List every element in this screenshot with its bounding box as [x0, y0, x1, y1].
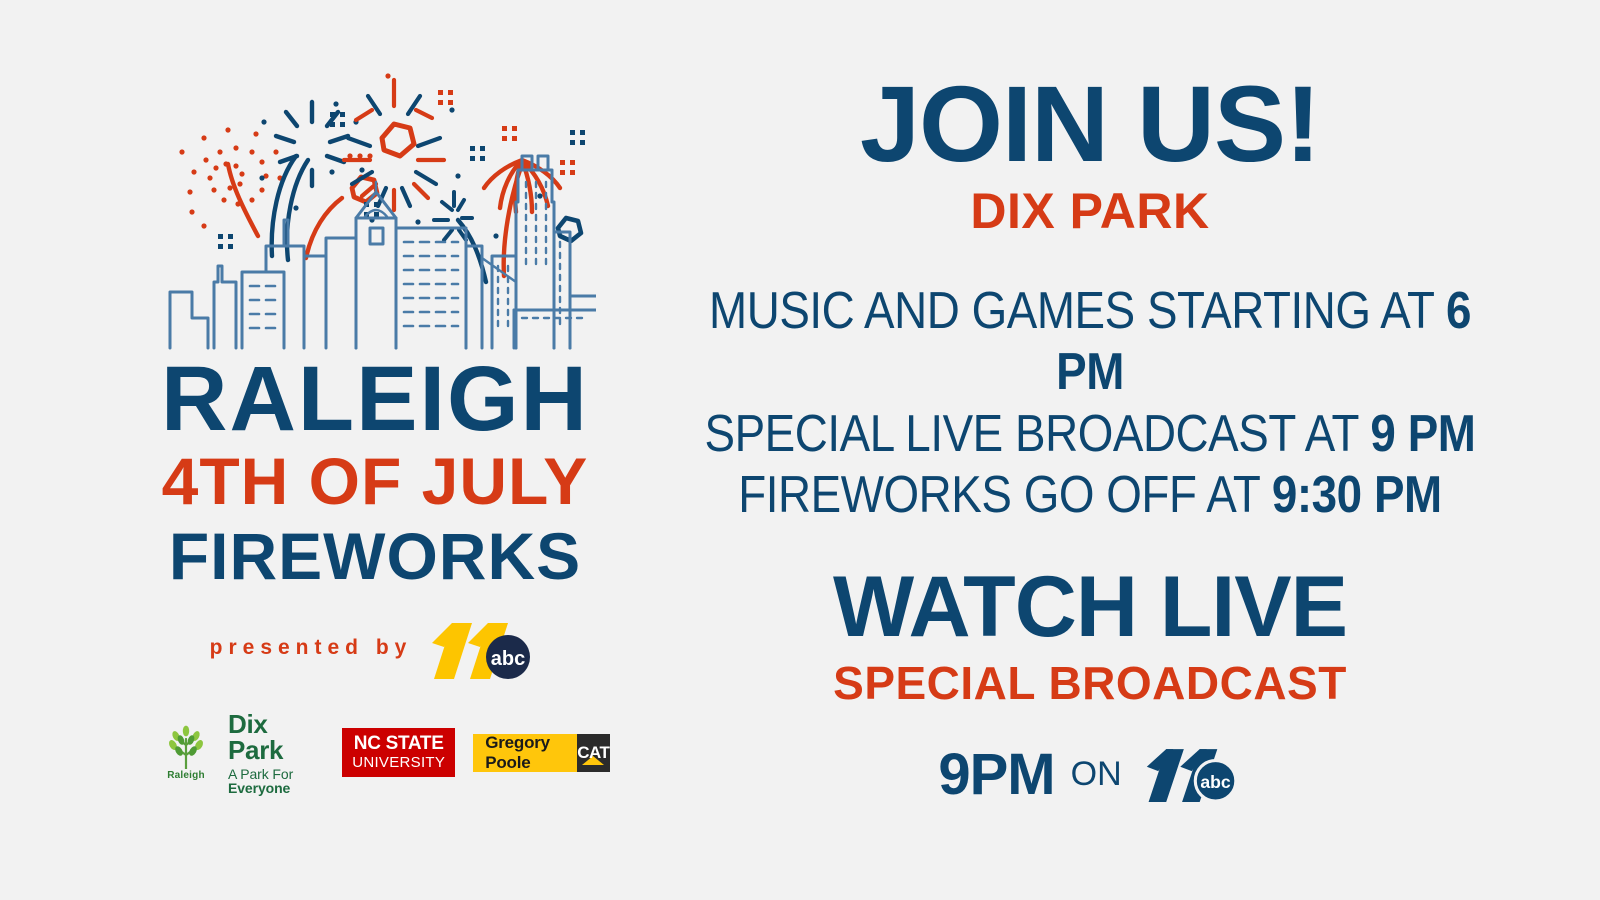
schedule-list: MUSIC AND GAMES STARTING AT 6 PM SPECIAL…	[640, 281, 1540, 526]
abc-wordmark: abc	[491, 648, 525, 670]
dix-park-title: Dix Park	[228, 711, 324, 763]
schedule-item: FIREWORKS GO OFF AT 9:30 PM	[694, 465, 1486, 526]
logo-line-fireworks: FIREWORKS	[160, 520, 590, 593]
event-details-panel: JOIN US! DIX PARK MUSIC AND GAMES STARTI…	[640, 70, 1540, 813]
cat-brand-box: CAT	[577, 734, 610, 772]
firework-center-star	[344, 80, 444, 210]
subheadline-location: DIX PARK	[640, 184, 1540, 239]
event-logo-wordmark: RALEIGH 4TH OF JULY FIREWORKS	[160, 356, 590, 593]
nc-state-line1: NC STATE	[354, 734, 444, 753]
nc-state-line2: UNIVERSITY	[352, 755, 445, 770]
on-label: ON	[1071, 755, 1122, 794]
sponsor-raleigh-parks: Raleigh	[162, 725, 210, 781]
abc11-logo-navy: abc	[1138, 736, 1242, 813]
tree-icon	[162, 725, 210, 769]
headline-join-us: JOIN US!	[640, 70, 1540, 178]
sponsor-dix-park: Dix Park A Park For Everyone	[228, 711, 324, 795]
subheadline-special-broadcast: SPECIAL BROADCAST	[640, 657, 1540, 710]
event-logo-panel: RALEIGH 4TH OF JULY FIREWORKS presented …	[160, 60, 610, 782]
schedule-item: MUSIC AND GAMES STARTING AT 6 PM	[694, 281, 1486, 404]
fireworks-skyline-illustration	[166, 60, 596, 350]
dix-park-tagline: A Park For Everyone	[228, 767, 324, 795]
sponsor-raleigh-label: Raleigh	[167, 770, 205, 781]
sponsor-nc-state: NC STATE UNIVERSITY	[342, 728, 455, 777]
skyline-windows	[250, 242, 458, 328]
air-time-row: 9PM ON abc	[640, 736, 1540, 813]
logo-line-fourth-of-july: 4TH OF JULY	[160, 445, 590, 518]
gregory-poole-name: Gregory Poole	[473, 734, 576, 772]
abc11-logo-yellow: abc	[422, 613, 540, 684]
sponsor-gregory-poole: Gregory Poole CAT	[473, 734, 610, 772]
air-time: 9PM	[938, 741, 1054, 808]
headline-watch-live: WATCH LIVE	[640, 562, 1540, 652]
sponsor-logo-row: Raleigh Dix Park A Park For Everyone NC …	[162, 724, 610, 782]
poster-canvas: RALEIGH 4TH OF JULY FIREWORKS presented …	[0, 0, 1600, 900]
logo-line-raleigh: RALEIGH	[160, 356, 590, 443]
presented-by-label: presented by	[210, 636, 413, 660]
cat-wordmark: CAT	[577, 743, 609, 763]
schedule-item: SPECIAL LIVE BROADCAST AT 9 PM	[694, 404, 1486, 465]
presented-by-row: presented by abc	[160, 613, 590, 684]
abc-wordmark: abc	[1200, 771, 1231, 791]
